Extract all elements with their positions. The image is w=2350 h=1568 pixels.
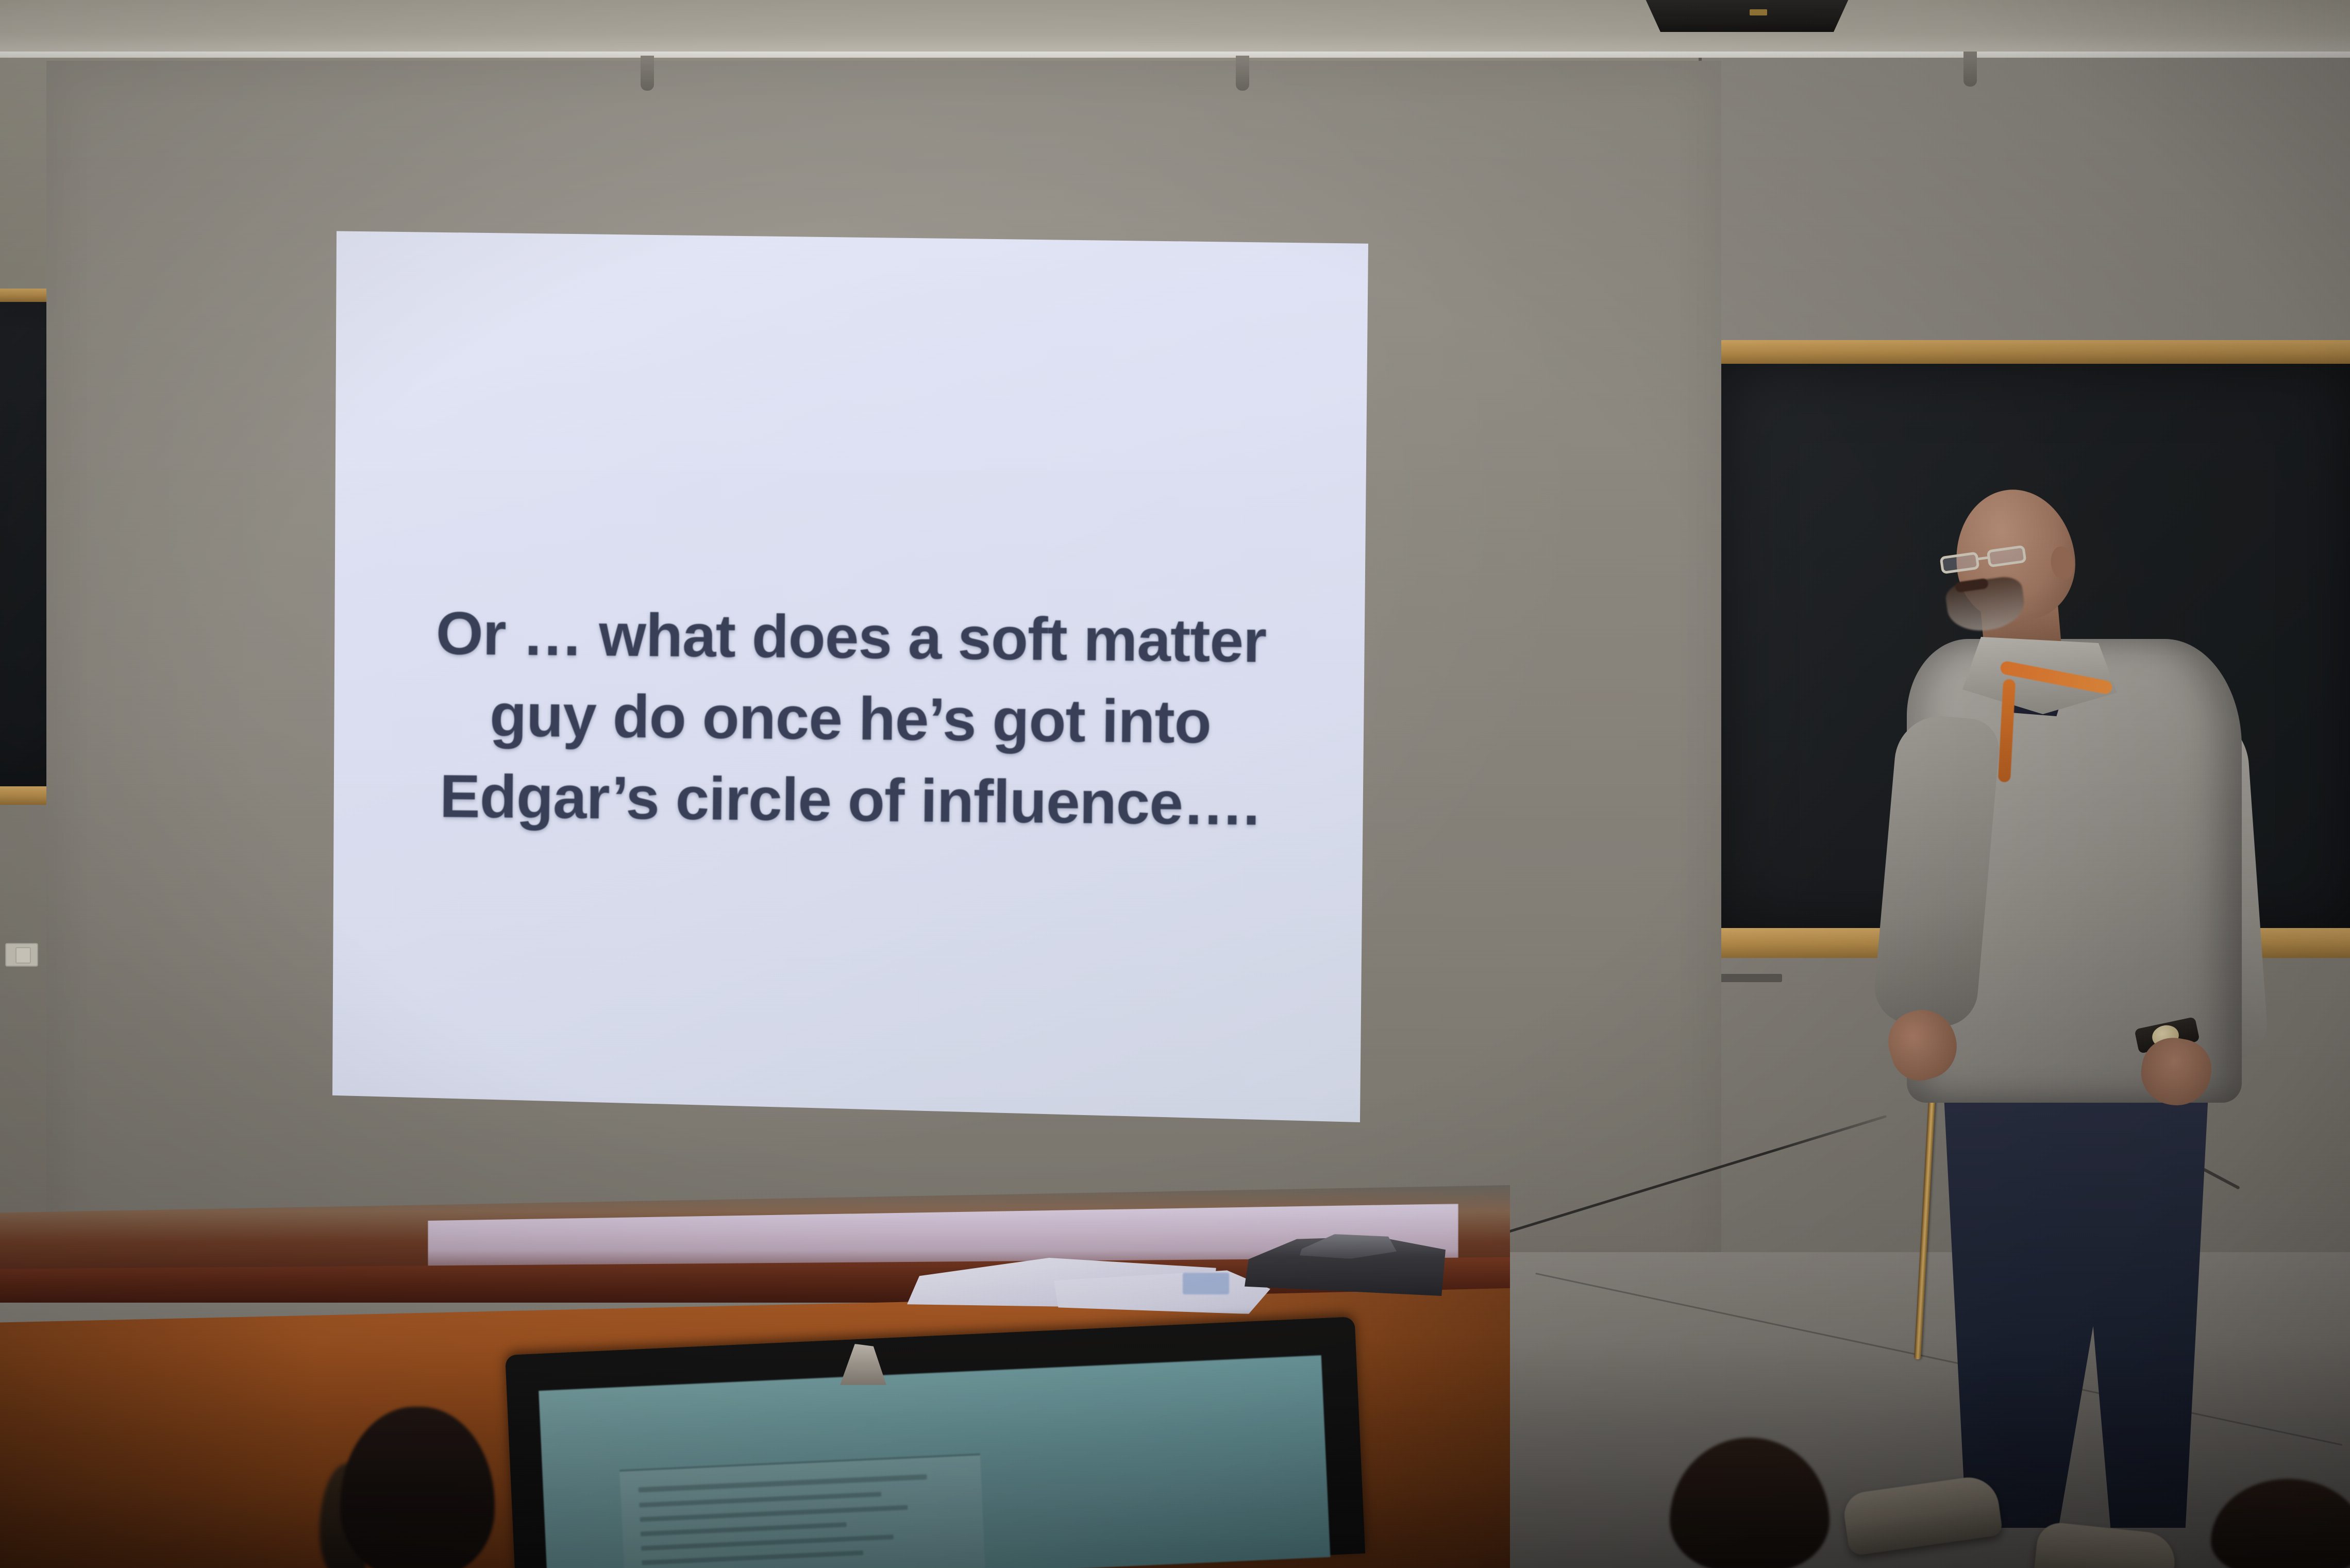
presenter-jeans <box>1932 1080 2220 1528</box>
light-switch-1[interactable] <box>15 947 31 964</box>
lecture-hall-photo: Or … what does a soft matter guy do once… <box>0 0 2350 1568</box>
laptop[interactable] <box>505 1317 1365 1568</box>
screen-hook-far-right <box>1963 52 1977 87</box>
presenter <box>1845 490 2309 1546</box>
laptop-screen[interactable] <box>539 1355 1330 1568</box>
presenter-shoe-left <box>1841 1474 2003 1557</box>
speaker-indicator-light <box>1750 9 1767 15</box>
slide-line-2: guy do once he’s got into <box>378 673 1322 764</box>
screen-hook-center <box>641 56 654 91</box>
slide-line-3: Edgar’s circle of influence…. <box>378 755 1321 846</box>
blue-document[interactable] <box>1183 1273 1229 1294</box>
projected-slide: Or … what does a soft matter guy do once… <box>332 226 1368 1122</box>
slide-text-block: Or … what does a soft matter guy do once… <box>331 592 1369 846</box>
ceiling-speaker <box>1644 0 1850 32</box>
board-frame-top <box>1720 340 2350 364</box>
screen-hook-right <box>1236 56 1249 91</box>
slide-line-1: Or … what does a soft matter <box>379 592 1323 683</box>
chalk-tray <box>1720 974 1782 982</box>
